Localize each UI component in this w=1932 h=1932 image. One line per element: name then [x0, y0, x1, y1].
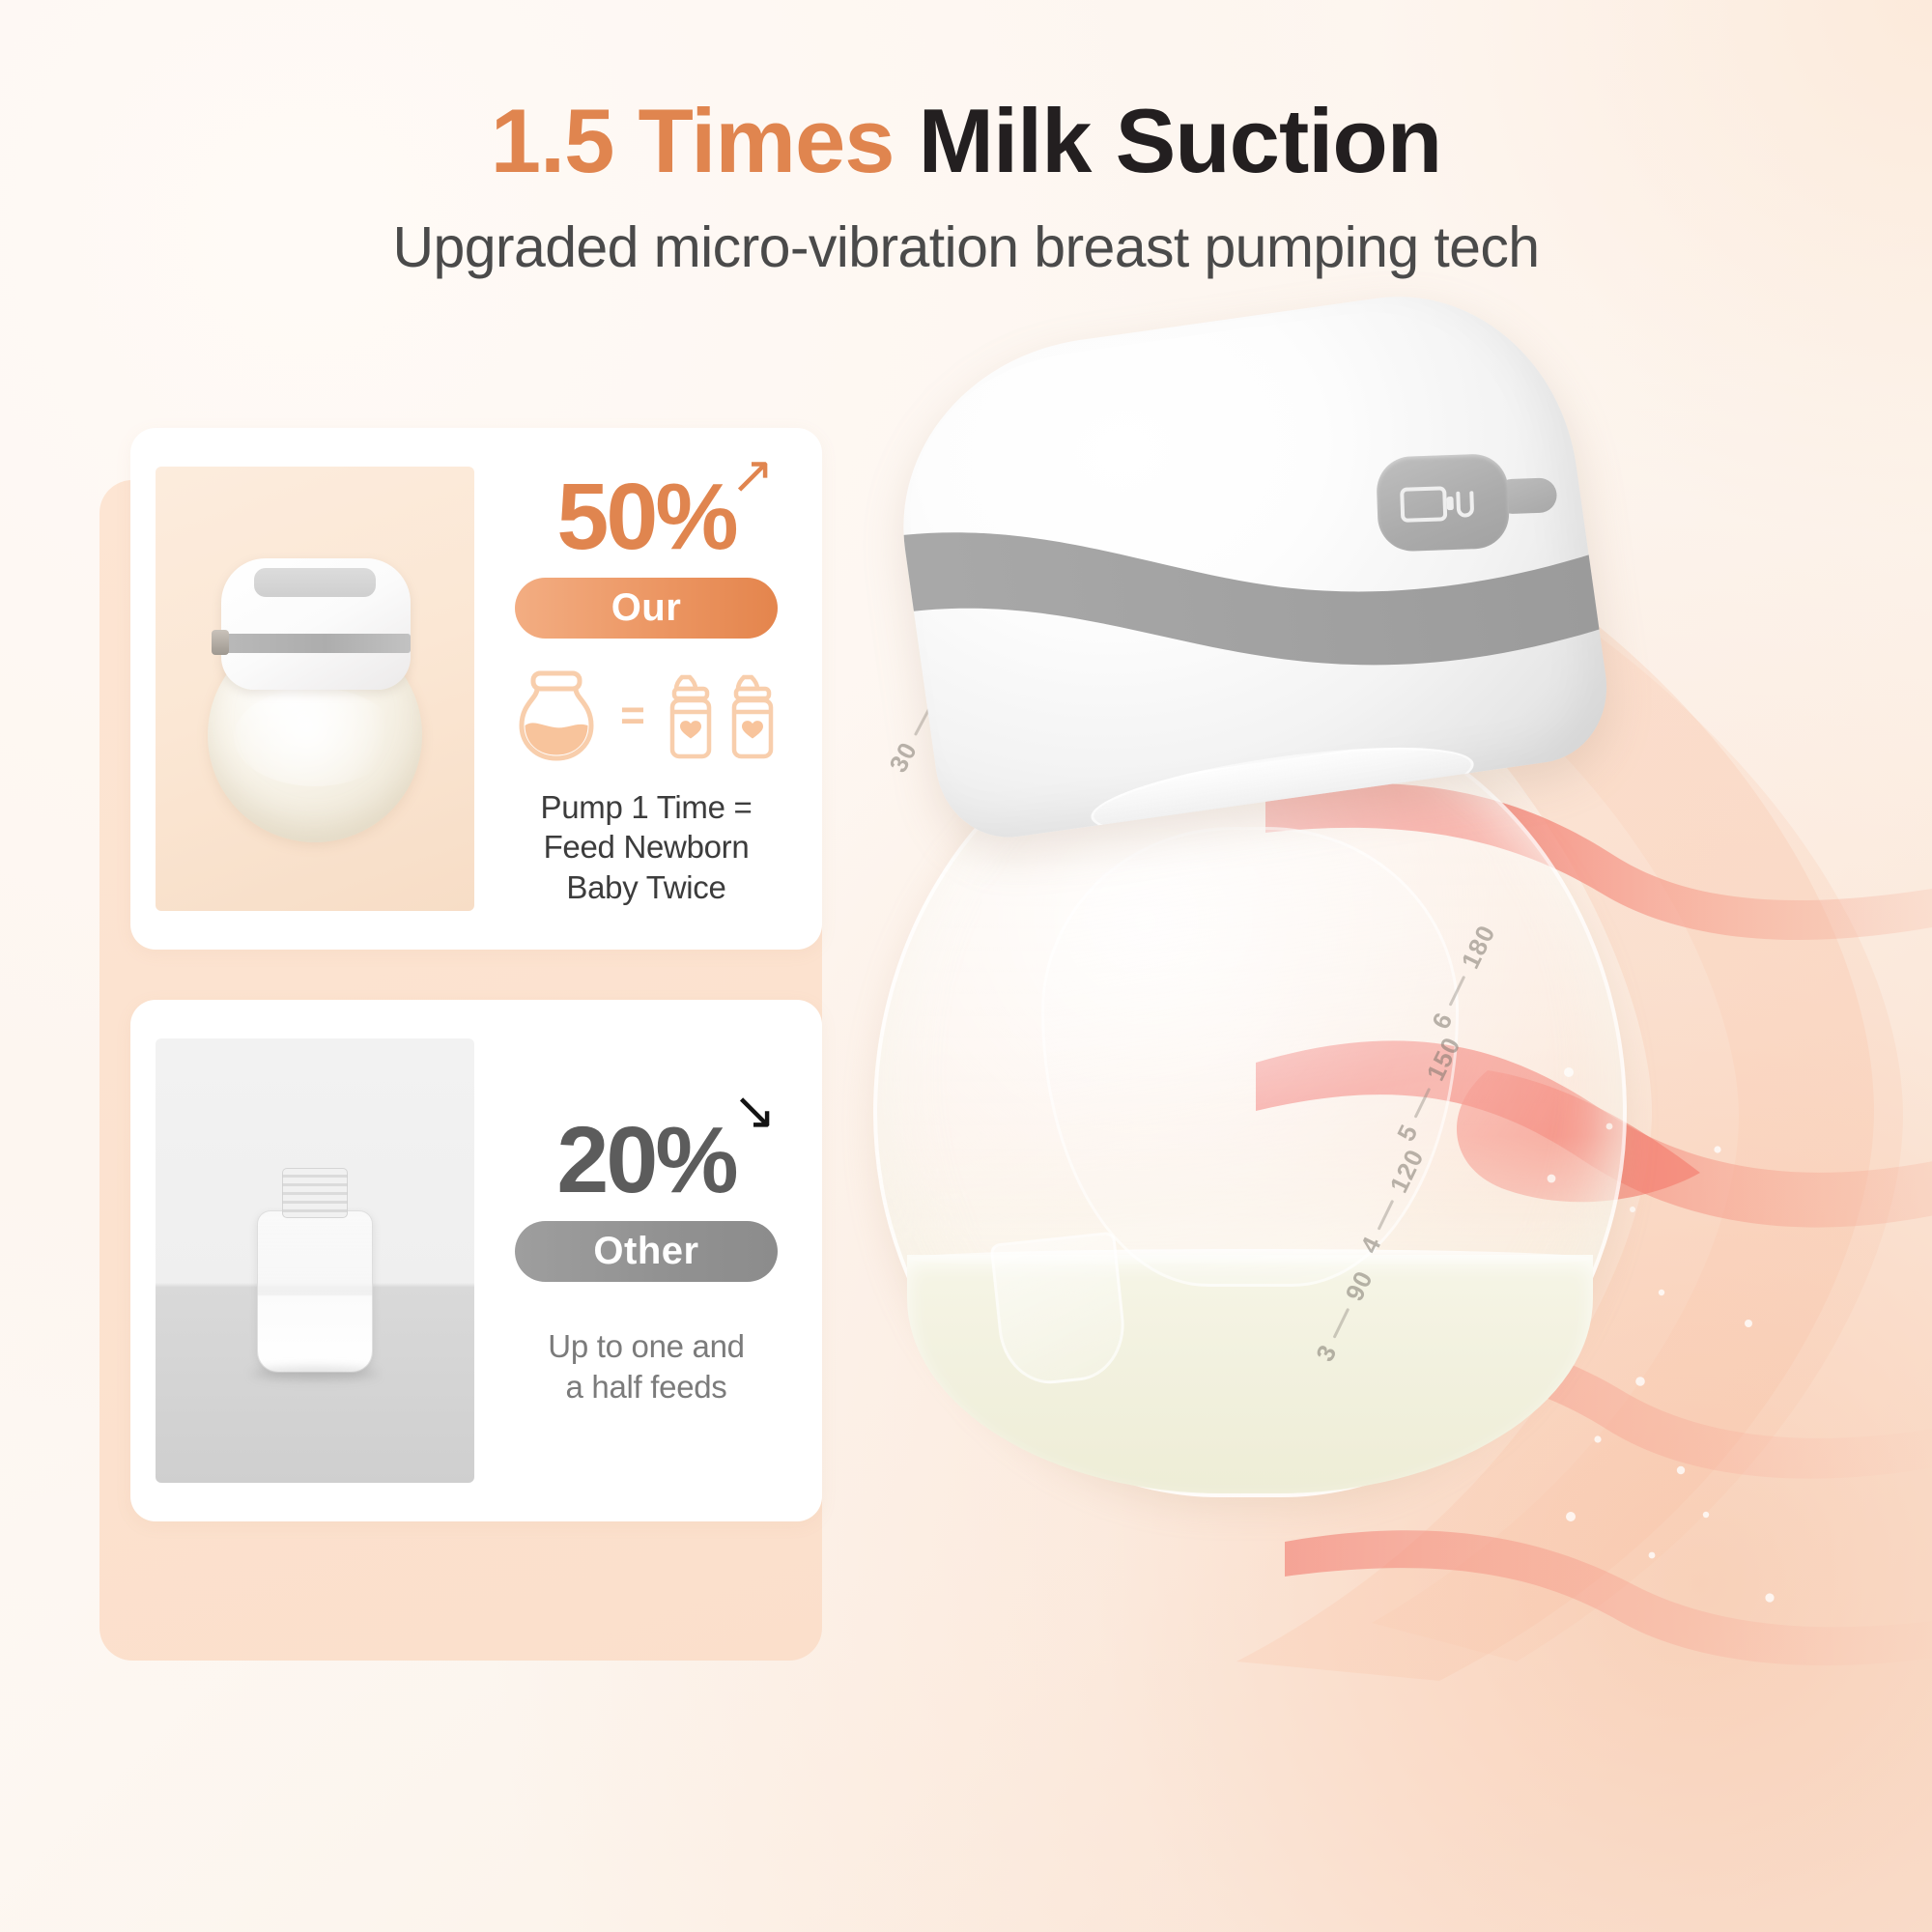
- page-subtitle: Upgraded micro-vibration breast pumping …: [0, 214, 1932, 280]
- equals-sign: =: [620, 695, 645, 737]
- arrow-up-icon: ↗: [730, 449, 774, 501]
- percent-value-other: 20%: [556, 1114, 735, 1206]
- badge-our: Our: [515, 578, 778, 639]
- percent-row-other: 20% ↘: [556, 1114, 735, 1206]
- two-baby-bottles-icon: [665, 669, 781, 762]
- icon-equation-row: =: [512, 669, 781, 762]
- comparison-panel: 50% ↗ Our =: [99, 480, 822, 1661]
- stat-column-our: 50% ↗ Our =: [496, 470, 797, 908]
- breast-pump-illustration: [194, 529, 436, 848]
- motor-shell: [880, 274, 1617, 847]
- comparison-card-other: 20% ↘ Other Up to one and a half feeds: [130, 1000, 822, 1521]
- caption-other-line-2: a half feeds: [548, 1367, 744, 1407]
- stat-column-other: 20% ↘ Other Up to one and a half feeds: [496, 1114, 797, 1406]
- bottle-body-shape: [257, 1210, 373, 1373]
- pump-clip: [212, 630, 229, 655]
- product-hero: 30 1 6 180 5 150 4 120 3 90: [792, 319, 1932, 1826]
- caption-other-line-1: Up to one and: [548, 1326, 744, 1367]
- header: 1.5 Times Milk Suction Upgraded micro-vi…: [0, 0, 1932, 280]
- pump-motor-unit: [880, 274, 1617, 847]
- badge-other: Other: [515, 1221, 778, 1282]
- caption-our: Pump 1 Time = Feed Newborn Baby Twice: [541, 787, 753, 908]
- caption-our-line-1: Pump 1 Time =: [541, 787, 753, 828]
- percent-value-our: 50%: [556, 470, 735, 562]
- arrow-down-icon: ↘: [732, 1085, 776, 1137]
- bottle-neck-shape: [282, 1168, 348, 1218]
- pump-screen-shape: [254, 568, 376, 597]
- caption-our-line-3: Baby Twice: [541, 867, 753, 908]
- scale-ml-left-0: 30: [883, 737, 923, 778]
- title-accent: 1.5 Times: [491, 90, 895, 191]
- percent-row-our: 50% ↗: [556, 470, 735, 562]
- page-title: 1.5 Times Milk Suction: [0, 93, 1932, 189]
- product-thumbnail-our: [156, 467, 474, 911]
- caption-other: Up to one and a half feeds: [548, 1326, 744, 1406]
- pump-grey-band: [221, 634, 411, 653]
- comparison-card-our: 50% ↗ Our =: [130, 428, 822, 950]
- product-thumbnail-other: [156, 1038, 474, 1483]
- milk-bottle-illustration: [247, 1158, 383, 1380]
- milk-jar-icon: [512, 669, 601, 762]
- battery-display-icon: [1398, 481, 1488, 526]
- caption-our-line-2: Feed Newborn: [541, 827, 753, 867]
- title-main: Milk Suction: [919, 90, 1442, 191]
- control-panel-button[interactable]: [1376, 453, 1510, 553]
- bottle-shadow: [251, 1367, 379, 1380]
- motor-grey-wave-band: [880, 412, 1617, 745]
- cup-inner-flange: [1041, 827, 1459, 1288]
